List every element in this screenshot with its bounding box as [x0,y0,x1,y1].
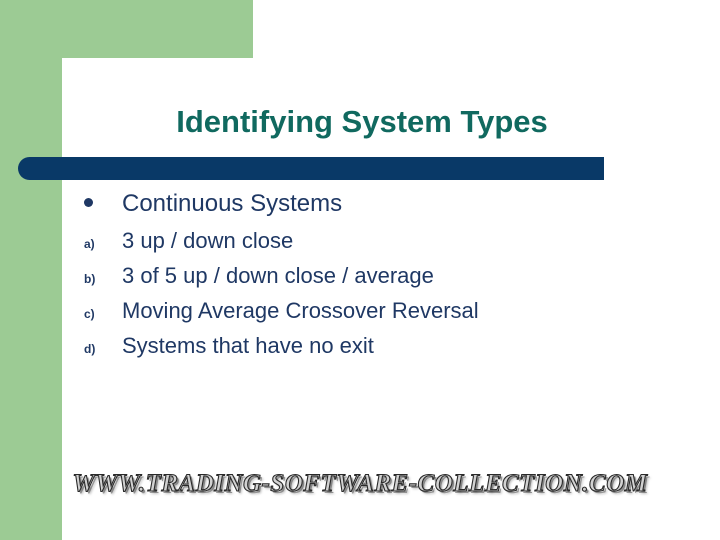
bullet-dot-icon [84,198,93,207]
list-item-marker: d) [84,342,95,356]
content-list: Continuous Systems a) 3 up / down close … [0,190,720,368]
list-item-label: Continuous Systems [122,190,342,218]
list-item-label: Systems that have no exit [122,333,374,359]
list-item-marker: b) [84,272,95,286]
letter-marker-b: b) [0,270,122,288]
list-item-label: 3 up / down close [122,228,293,254]
list-item-marker: c) [84,307,95,321]
bullet-marker [0,198,122,216]
page-title: Identifying System Types [62,103,662,141]
list-item: c) Moving Average Crossover Reversal [0,298,720,333]
list-item-label: 3 of 5 up / down close / average [122,263,434,289]
letter-marker-d: d) [0,340,122,358]
list-item: d) Systems that have no exit [0,333,720,368]
list-item-marker: a) [84,237,95,251]
list-item-label: Moving Average Crossover Reversal [122,298,479,324]
list-item: Continuous Systems [0,190,720,228]
list-item: a) 3 up / down close [0,228,720,263]
navy-title-underline-bar [18,157,604,180]
letter-marker-a: a) [0,235,122,253]
list-item: b) 3 of 5 up / down close / average [0,263,720,298]
watermark-text: WWW.TRADING-SOFTWARE-COLLECTION.COM [0,470,720,498]
letter-marker-c: c) [0,305,122,323]
slide-canvas: Identifying System Types Continuous Syst… [0,0,720,540]
